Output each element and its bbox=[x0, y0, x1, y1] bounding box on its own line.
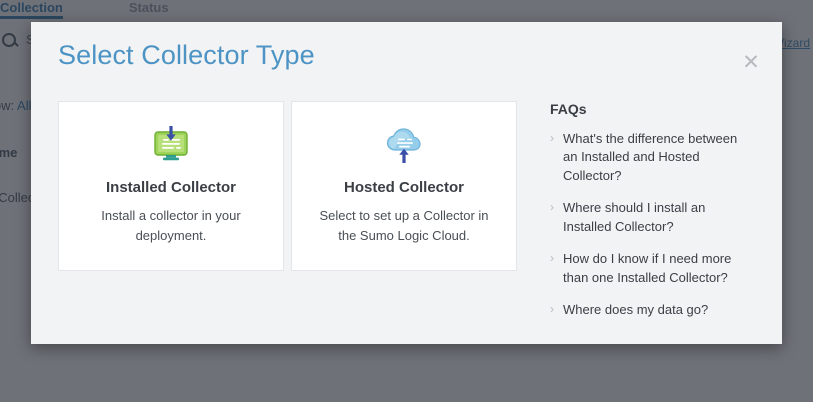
chevron-right-icon: › bbox=[550, 301, 554, 319]
faq-heading: FAQs bbox=[550, 101, 755, 117]
hosted-collector-cloud-icon bbox=[382, 125, 426, 167]
faq-item[interactable]: › Where does my data go? bbox=[550, 301, 755, 319]
chevron-right-icon: › bbox=[550, 130, 554, 185]
faq-item-label: What's the difference between an Install… bbox=[563, 130, 755, 185]
select-collector-type-dialog: ✕ Select Collector Type bbox=[31, 22, 782, 344]
faq-item-label: Where does my data go? bbox=[563, 301, 708, 319]
faq-item[interactable]: › Where should I install an Installed Co… bbox=[550, 199, 755, 236]
card-hosted-collector-title: Hosted Collector bbox=[344, 179, 464, 196]
close-icon[interactable]: ✕ bbox=[740, 52, 762, 74]
faq-item[interactable]: › How do I know if I need more than one … bbox=[550, 250, 755, 287]
faq-item[interactable]: › What's the difference between an Insta… bbox=[550, 130, 755, 185]
installed-collector-monitor-icon bbox=[149, 125, 193, 167]
faq-item-label: How do I know if I need more than one In… bbox=[563, 250, 755, 287]
chevron-right-icon: › bbox=[550, 199, 554, 236]
card-hosted-collector-description: Select to set up a Collector in the Sumo… bbox=[314, 206, 494, 246]
faq-item-label: Where should I install an Installed Coll… bbox=[563, 199, 755, 236]
dialog-title: Select Collector Type bbox=[58, 40, 315, 71]
faq-panel: FAQs › What's the difference between an … bbox=[550, 101, 755, 334]
collector-type-cards: Installed Collector Install a collector … bbox=[58, 101, 517, 334]
dialog-body: Installed Collector Install a collector … bbox=[31, 101, 782, 334]
card-installed-collector[interactable]: Installed Collector Install a collector … bbox=[58, 101, 284, 271]
chevron-right-icon: › bbox=[550, 250, 554, 287]
card-installed-collector-title: Installed Collector bbox=[106, 179, 236, 196]
card-installed-collector-description: Install a collector in your deployment. bbox=[81, 206, 261, 246]
app-root: Collection Status Search Show: All Name … bbox=[0, 0, 813, 402]
card-hosted-collector[interactable]: Hosted Collector Select to set up a Coll… bbox=[291, 101, 517, 271]
